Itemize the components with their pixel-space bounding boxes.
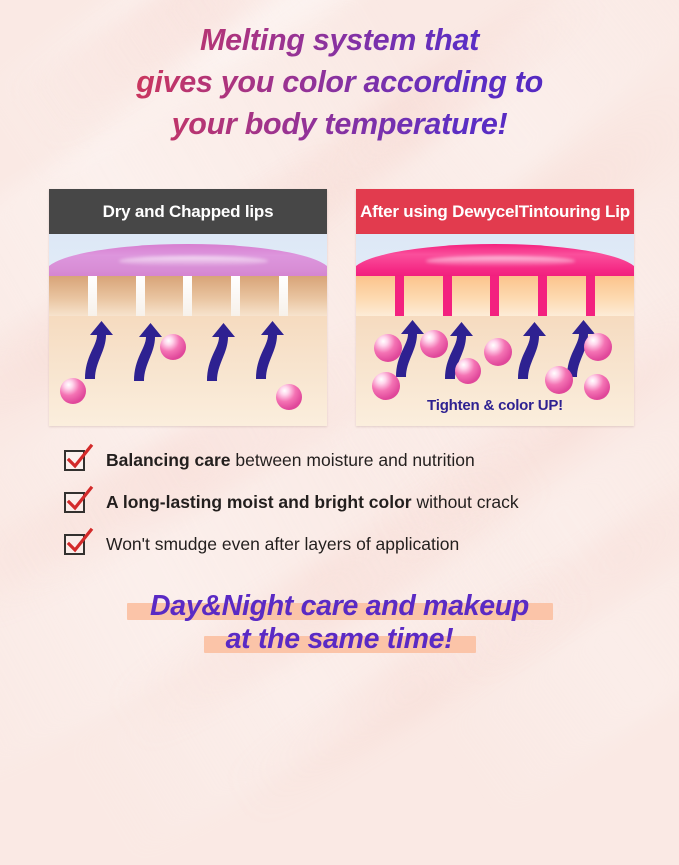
list-item-rest: without crack bbox=[412, 492, 519, 512]
panel-after-header-line-1: After using Dewycel bbox=[360, 202, 519, 221]
list-item-text: A long-lasting moist and bright color wi… bbox=[106, 492, 519, 513]
panel-after-caption: Tighten & color UP! bbox=[356, 397, 634, 414]
before-arrows-and-droplets bbox=[49, 234, 327, 426]
list-item: Balancing care between moisture and nutr… bbox=[64, 446, 519, 488]
checkbox-checked-icon bbox=[64, 492, 85, 513]
panel-after-header-line-2: Tintouring Lip bbox=[519, 202, 630, 221]
panel-after-header: After using Dewycel Tintouring Lip bbox=[356, 189, 634, 234]
footer-line-2: at the same time! bbox=[226, 623, 454, 655]
list-item: A long-lasting moist and bright color wi… bbox=[64, 488, 519, 530]
panel-after-diagram: Tighten & color UP! bbox=[356, 234, 634, 426]
footer-headline: Day&Night care and makeup at the same ti… bbox=[0, 590, 679, 656]
list-item-rest: Won't smudge even after layers of applic… bbox=[106, 534, 459, 554]
headline-line-2: gives you color according to bbox=[0, 62, 679, 104]
list-item-rest: between moisture and nutrition bbox=[231, 450, 475, 470]
list-item-bold: Balancing care bbox=[106, 450, 231, 470]
list-item-bold: A long-lasting moist and bright color bbox=[106, 492, 412, 512]
footer-line-1-row: Day&Night care and makeup bbox=[0, 590, 679, 623]
panel-before-diagram bbox=[49, 234, 327, 426]
footer-line-2-row: at the same time! bbox=[0, 623, 679, 656]
page-headline: Melting system that gives you color acco… bbox=[0, 20, 679, 145]
headline-line-3: your body temperature! bbox=[0, 104, 679, 146]
before-effects-layer bbox=[49, 234, 327, 426]
list-item: Won't smudge even after layers of applic… bbox=[64, 530, 519, 572]
checkbox-checked-icon bbox=[64, 534, 85, 555]
feature-checklist: Balancing care between moisture and nutr… bbox=[64, 446, 519, 572]
headline-line-1: Melting system that bbox=[0, 20, 679, 62]
footer-line-1: Day&Night care and makeup bbox=[150, 590, 529, 622]
list-item-text: Won't smudge even after layers of applic… bbox=[106, 534, 459, 555]
checkbox-checked-icon bbox=[64, 450, 85, 471]
list-item-text: Balancing care between moisture and nutr… bbox=[106, 450, 475, 471]
panel-after: After using Dewycel Tintouring Lip bbox=[356, 189, 634, 426]
panel-before-header: Dry and Chapped lips bbox=[49, 189, 327, 234]
panel-before: Dry and Chapped lips bbox=[49, 189, 327, 426]
